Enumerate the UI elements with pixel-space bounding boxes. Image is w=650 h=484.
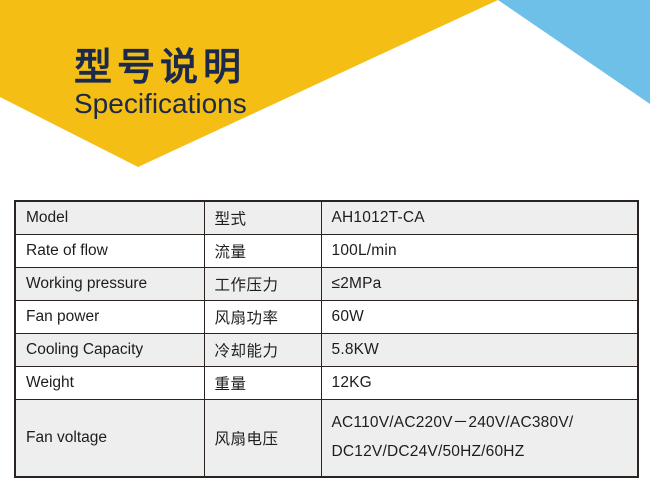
row-label-cn: 工作压力 xyxy=(204,268,321,301)
table-row: Weight 重量 12KG xyxy=(15,367,638,400)
page-title-chinese: 型号说明 xyxy=(74,48,247,88)
table-row: Model 型式 AH1012T-CA xyxy=(15,201,638,235)
row-value: 100L/min xyxy=(321,235,638,268)
table-row: Working pressure 工作压力 ≤2MPa xyxy=(15,268,638,301)
row-value: AC110V/AC220V－240V/AC380V/ DC12V/DC24V/5… xyxy=(321,400,638,478)
row-label-en: Working pressure xyxy=(15,268,204,301)
row-value-line-2: DC12V/DC24V/50HZ/60HZ xyxy=(332,438,628,467)
row-value-line-1: AC110V/AC220V－240V/AC380V/ xyxy=(332,409,628,438)
row-label-en: Cooling Capacity xyxy=(15,334,204,367)
row-label-en: Weight xyxy=(15,367,204,400)
table-row: Cooling Capacity 冷却能力 5.8KW xyxy=(15,334,638,367)
row-label-cn: 风扇功率 xyxy=(204,301,321,334)
specifications-table-container: Model 型式 AH1012T-CA Rate of flow 流量 100L… xyxy=(14,200,637,478)
row-label-cn: 型式 xyxy=(204,201,321,235)
header-banner: 型号说明 Specifications xyxy=(0,0,650,190)
row-label-cn: 冷却能力 xyxy=(204,334,321,367)
page-title: 型号说明 Specifications xyxy=(74,48,247,120)
row-label-en: Fan power xyxy=(15,301,204,334)
row-value: 60W xyxy=(321,301,638,334)
table-row: Fan power 风扇功率 60W xyxy=(15,301,638,334)
row-label-cn: 流量 xyxy=(204,235,321,268)
page-title-english: Specifications xyxy=(74,89,247,120)
table-row: Rate of flow 流量 100L/min xyxy=(15,235,638,268)
row-label-en: Model xyxy=(15,201,204,235)
blue-triangle-shape xyxy=(498,0,650,104)
table-row: Fan voltage 风扇电压 AC110V/AC220V－240V/AC38… xyxy=(15,400,638,478)
row-label-en: Fan voltage xyxy=(15,400,204,478)
row-value: AH1012T-CA xyxy=(321,201,638,235)
row-label-en: Rate of flow xyxy=(15,235,204,268)
row-label-cn: 风扇电压 xyxy=(204,400,321,478)
row-value: 5.8KW xyxy=(321,334,638,367)
row-value: ≤2MPa xyxy=(321,268,638,301)
row-label-cn: 重量 xyxy=(204,367,321,400)
specifications-table: Model 型式 AH1012T-CA Rate of flow 流量 100L… xyxy=(14,200,639,478)
row-value: 12KG xyxy=(321,367,638,400)
